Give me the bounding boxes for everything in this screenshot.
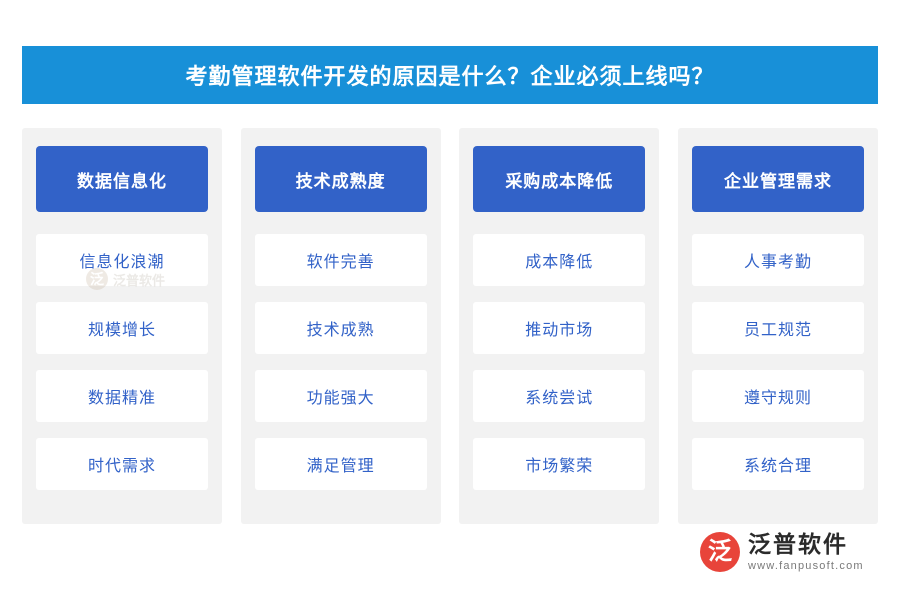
list-item[interactable]: 系统尝试 (473, 370, 645, 422)
list-item[interactable]: 员工规范 (692, 302, 864, 354)
list-item-label: 时代需求 (88, 452, 156, 476)
list-item-label: 信息化浪潮 (79, 248, 164, 272)
list-item-label: 人事考勤 (744, 248, 812, 272)
column-header: 数据信息化 (36, 146, 208, 212)
list-item[interactable]: 技术成熟 (255, 302, 427, 354)
column-header: 技术成熟度 (255, 146, 427, 212)
list-item[interactable]: 推动市场 (473, 302, 645, 354)
column-header: 企业管理需求 (692, 146, 864, 212)
list-item[interactable]: 遵守规则 (692, 370, 864, 422)
brand-logo-texts: 泛普软件 www.fanpusoft.com (748, 532, 864, 571)
list-item-label: 系统合理 (744, 452, 812, 476)
list-item[interactable]: 成本降低 (473, 234, 645, 286)
brand-logo-mark-label: 泛 (708, 540, 732, 564)
page-title: 考勤管理软件开发的原因是什么？企业必须上线吗？ (185, 59, 714, 91)
list-item[interactable]: 数据精准 (36, 370, 208, 422)
brand-logo-icon: 泛 (700, 532, 740, 572)
column-procurement-cost-reduction: 采购成本降低 成本降低 推动市场 系统尝试 市场繁荣 (459, 128, 659, 524)
column-header: 采购成本降低 (473, 146, 645, 212)
list-item-label: 系统尝试 (525, 384, 593, 408)
list-item[interactable]: 人事考勤 (692, 234, 864, 286)
list-item-label: 员工规范 (744, 316, 812, 340)
brand-logo: 泛 泛普软件 www.fanpusoft.com (700, 526, 878, 578)
columns-container: 数据信息化 信息化浪潮 规模增长 数据精准 时代需求 技术成熟度 软件完善 (22, 128, 878, 524)
list-item-label: 规模增长 (88, 316, 156, 340)
list-item[interactable]: 功能强大 (255, 370, 427, 422)
list-item-label: 数据精准 (88, 384, 156, 408)
column-technology-maturity: 技术成熟度 软件完善 技术成熟 功能强大 满足管理 (241, 128, 441, 524)
infographic-page: 考勤管理软件开发的原因是什么？企业必须上线吗？ 数据信息化 信息化浪潮 规模增长… (0, 0, 900, 600)
list-item[interactable]: 满足管理 (255, 438, 427, 490)
list-item[interactable]: 系统合理 (692, 438, 864, 490)
list-item[interactable]: 规模增长 (36, 302, 208, 354)
list-item-label: 市场繁荣 (525, 452, 593, 476)
column-header-label: 数据信息化 (77, 167, 167, 192)
list-item[interactable]: 信息化浪潮 (36, 234, 208, 286)
list-item[interactable]: 软件完善 (255, 234, 427, 286)
column-data-informatization: 数据信息化 信息化浪潮 规模增长 数据精准 时代需求 (22, 128, 222, 524)
list-item[interactable]: 时代需求 (36, 438, 208, 490)
list-item-label: 推动市场 (525, 316, 593, 340)
column-header-label: 技术成熟度 (296, 167, 386, 192)
list-item[interactable]: 市场繁荣 (473, 438, 645, 490)
list-item-label: 满足管理 (307, 452, 375, 476)
brand-url: www.fanpusoft.com (748, 560, 864, 572)
column-enterprise-management-demand: 企业管理需求 人事考勤 员工规范 遵守规则 系统合理 (678, 128, 878, 524)
column-header-label: 企业管理需求 (724, 167, 832, 192)
list-item-label: 软件完善 (307, 248, 375, 272)
title-banner: 考勤管理软件开发的原因是什么？企业必须上线吗？ (22, 46, 878, 104)
list-item-label: 技术成熟 (307, 316, 375, 340)
brand-name: 泛普软件 (748, 532, 864, 556)
list-item-label: 功能强大 (307, 384, 375, 408)
column-header-label: 采购成本降低 (505, 167, 613, 192)
list-item-label: 遵守规则 (744, 384, 812, 408)
list-item-label: 成本降低 (525, 248, 593, 272)
